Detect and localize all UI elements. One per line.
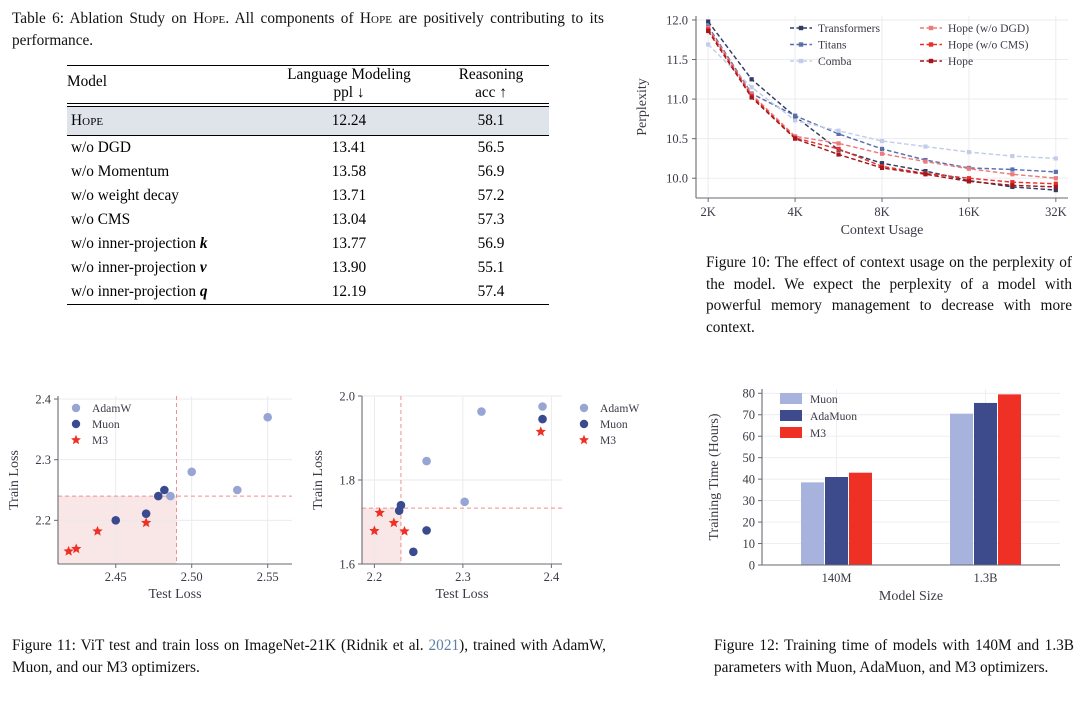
series-marker (836, 129, 840, 133)
table-row-highlight: Hope 12.24 58.1 (67, 107, 549, 136)
data-point-circle (477, 407, 486, 416)
series-marker (706, 19, 710, 23)
series-marker (1054, 156, 1058, 160)
cell-acc: 56.9 (433, 160, 549, 184)
figure10-svg: 10.010.511.011.512.02K4K8K16K32KContext … (620, 0, 1080, 240)
cell-model-text: w/o inner-projection q (71, 283, 208, 300)
data-point-circle (538, 415, 547, 424)
data-point-circle (154, 492, 163, 501)
tick-label-y: 1.8 (339, 473, 355, 487)
tick-label-y: 0 (749, 558, 755, 572)
cell-model: w/o inner-projection k (67, 232, 265, 256)
figure12-caption: Figure 12: Training time of models with … (714, 635, 1074, 678)
legend-swatch (780, 393, 802, 404)
cell-acc: 56.5 (433, 136, 549, 160)
tick-label-x: 32K (1045, 205, 1067, 219)
cell-ppl: 13.58 (265, 160, 433, 184)
table-row: w/o inner-projection k 13.77 56.9 (67, 232, 549, 256)
column-header-lm: Language Modeling ppl ↓ (265, 66, 433, 103)
tick-label-y: 40 (743, 472, 756, 486)
table6-block: Table 6: Ablation Study on Hope. All com… (12, 8, 604, 305)
legend-label: M3 (810, 427, 826, 440)
legend-label: Comba (818, 55, 852, 68)
legend-label: Hope (w/o DGD) (948, 22, 1029, 35)
figure11-right-svg: 1.61.82.02.22.32.4Test LossTrain LossAda… (300, 378, 720, 628)
series-marker (967, 150, 971, 154)
cell-ppl: 13.71 (265, 184, 433, 208)
column-header-model: Model (67, 66, 265, 103)
table6-caption-hope-1: Hope (193, 10, 225, 27)
bar-adamuon-1.3B (974, 403, 997, 565)
cell-model: w/o CMS (67, 208, 265, 232)
tick-label-x: 2.2 (367, 570, 383, 584)
tick-label-y: 2.2 (35, 514, 51, 528)
legend-marker (799, 42, 803, 46)
figure11-left-svg: 2.22.32.42.452.502.55Test LossTrain Loss… (0, 378, 300, 628)
data-point-circle (233, 486, 242, 495)
axis-label-y: Perplexity (635, 78, 650, 136)
series-marker (1010, 167, 1014, 171)
series-marker (880, 139, 884, 143)
pareto-shade (58, 496, 177, 564)
series-marker (967, 179, 971, 183)
tick-label-y: 50 (743, 451, 756, 465)
series-marker (750, 85, 754, 89)
bar-m3-1.3B (998, 394, 1021, 565)
cell-acc: 56.9 (433, 232, 549, 256)
column-header-reasoning: Reasoning acc ↑ (433, 66, 549, 103)
math-symbol: v (200, 259, 207, 276)
tick-label-y: 11.5 (667, 53, 688, 67)
cell-ppl: 13.41 (265, 136, 433, 160)
series-marker (880, 147, 884, 151)
figure10-chart: 10.010.511.011.512.02K4K8K16K32KContext … (620, 0, 1080, 240)
series-marker (880, 152, 884, 156)
paper-page: Table 6: Ablation Study on Hope. All com… (0, 0, 1080, 721)
table-row: w/o inner-projection q 12.19 57.4 (67, 280, 549, 305)
data-point-circle (187, 468, 196, 477)
cell-model: w/o Momentum (67, 160, 265, 184)
cell-ppl: 13.77 (265, 232, 433, 256)
data-point-circle (538, 402, 547, 411)
legend-marker (929, 26, 933, 30)
cell-model: w/o weight decay (67, 184, 265, 208)
series-marker (836, 147, 840, 151)
svg-fig11L-plot: 2.22.32.42.452.502.55Test LossTrain Loss… (7, 392, 292, 602)
tick-label-x: 2.50 (181, 570, 203, 584)
axis-label-x: Test Loss (148, 587, 201, 602)
legend-marker-circle (72, 404, 80, 412)
tick-label-x: 16K (958, 205, 980, 219)
legend-label: Muon (600, 418, 628, 431)
svg-fig11R-legend: AdamWMuonM3 (579, 402, 639, 447)
tick-label-y: 2.4 (35, 392, 51, 406)
cell-ppl: 12.19 (265, 280, 433, 305)
axis-label-y: Training Time (Hours) (707, 413, 722, 540)
series-marker (1010, 183, 1014, 187)
series-marker (923, 160, 927, 164)
cell-acc: 57.2 (433, 184, 549, 208)
series-marker (1010, 172, 1014, 176)
series-marker (1054, 176, 1058, 180)
series-marker (1054, 170, 1058, 174)
legend-label: Titans (818, 39, 847, 52)
table-header-row: Model Language Modeling ppl ↓ Reasoning … (67, 66, 549, 103)
series-marker (706, 29, 710, 33)
figure12-legend: MuonAdaMuonM3 (780, 393, 857, 440)
series-marker (706, 42, 710, 46)
data-point-circle (422, 526, 431, 535)
bar-muon-1.3B (950, 414, 973, 565)
legend-label: Hope (w/o CMS) (948, 39, 1029, 52)
legend-label: AdamW (600, 402, 639, 415)
cell-model: w/o inner-projection v (67, 256, 265, 280)
axis-label-x: Context Usage (841, 223, 924, 238)
column-header-lm-line1: Language Modeling (265, 66, 433, 84)
series-marker (923, 144, 927, 148)
column-header-reasoning-line2: acc ↑ (433, 84, 549, 102)
legend-label: Muon (810, 393, 838, 406)
cell-model-text: w/o inner-projection k (71, 235, 208, 252)
table-rule-bottom (67, 305, 549, 306)
fig10-plot: 10.010.511.011.512.02K4K8K16K32KContext … (635, 13, 1068, 238)
legend-label: AdamW (92, 402, 131, 415)
legend-label: Transformers (818, 22, 881, 35)
tick-label-y: 80 (743, 387, 756, 401)
cell-acc: 57.4 (433, 280, 549, 305)
data-point-circle (460, 498, 469, 507)
data-point-circle (160, 486, 169, 495)
bar-muon-140M (801, 482, 824, 565)
series-marker (967, 167, 971, 171)
cell-model: w/o inner-projection q (67, 280, 265, 305)
figure11-caption-pre: Figure 11: ViT test and train loss on Im… (12, 637, 429, 654)
data-point-circle (422, 457, 431, 466)
series-marker (750, 95, 754, 99)
table6-caption: Table 6: Ablation Study on Hope. All com… (12, 8, 604, 51)
tick-label-y: 30 (743, 494, 756, 508)
figure12-chart: 140M1.3B01020304050607080Model SizeTrain… (700, 375, 1080, 625)
tick-label-x: 8K (874, 205, 889, 219)
tick-label-y: 2.0 (339, 389, 355, 403)
tick-label-x: 2.55 (257, 570, 279, 584)
axis-label-y: Train Loss (311, 450, 326, 510)
figure11-left-chart: 2.22.32.42.452.502.55Test LossTrain Loss… (0, 378, 300, 628)
data-point-circle (263, 413, 272, 422)
cell-ppl: 13.04 (265, 208, 433, 232)
tick-label-y: 10.5 (666, 132, 688, 146)
column-header-lm-line2: ppl ↓ (265, 84, 433, 102)
cell-model-text: w/o inner-projection v (71, 259, 207, 276)
fig12-plot: 140M1.3B01020304050607080Model SizeTrain… (707, 387, 1060, 604)
tick-label-y: 1.6 (339, 557, 355, 571)
data-point-circle (111, 516, 120, 525)
data-point-circle (397, 501, 406, 510)
tick-label-x: 2.3 (455, 570, 471, 584)
legend-marker-circle (72, 420, 80, 428)
tick-label-x: 2.4 (544, 570, 560, 584)
figure10-legend: TransformersTitansCombaHope (w/o DGD)Hop… (790, 22, 1029, 68)
legend-swatch (780, 427, 802, 438)
bar-m3-140M (849, 473, 872, 565)
series-marker (836, 152, 840, 156)
tick-label-y: 12.0 (666, 13, 688, 27)
table-row: w/o weight decay 13.71 57.2 (67, 184, 549, 208)
series-marker (793, 137, 797, 141)
column-header-reasoning-line1: Reasoning (433, 66, 549, 84)
legend-marker (799, 26, 803, 30)
data-point-circle (166, 492, 175, 501)
figure10-caption: Figure 10: The effect of context usage o… (706, 252, 1072, 339)
tick-label-y: 11.0 (667, 92, 688, 106)
figure12-svg: 140M1.3B01020304050607080Model SizeTrain… (700, 375, 1080, 625)
figure11-caption: Figure 11: ViT test and train loss on Im… (12, 635, 606, 678)
table-row: w/o DGD 13.41 56.5 (67, 136, 549, 160)
bar-adamuon-140M (825, 477, 848, 565)
cell-model: w/o DGD (67, 136, 265, 160)
legend-marker-circle (580, 404, 588, 412)
svg-fig11R-plot: 1.61.82.02.22.32.4Test LossTrain LossAda… (311, 389, 639, 602)
table-row: w/o Momentum 13.58 56.9 (67, 160, 549, 184)
tick-label-x: 140M (822, 571, 852, 585)
tick-label-x: 2K (701, 205, 716, 219)
series-marker (1054, 185, 1058, 189)
tick-label-x: 1.3B (974, 571, 998, 585)
legend-label: M3 (600, 434, 616, 447)
tick-label-y: 2.3 (35, 453, 51, 467)
legend-marker-star (579, 435, 589, 444)
tick-label-y: 60 (743, 430, 756, 444)
cell-acc: 57.3 (433, 208, 549, 232)
cell-acc: 55.1 (433, 256, 549, 280)
cell-acc: 58.1 (433, 107, 549, 136)
axis-label-y: Train Loss (7, 450, 22, 510)
series-marker (793, 118, 797, 122)
tick-label-x: 2.45 (105, 570, 127, 584)
table6-caption-mid: . All components of (225, 10, 360, 27)
cell-model: Hope (67, 107, 265, 136)
table6-caption-hope-2: Hope (360, 10, 392, 27)
figure11-right-chart: 1.61.82.02.22.32.4Test LossTrain LossAda… (300, 378, 720, 628)
tick-label-x: 4K (787, 205, 802, 219)
series-marker (836, 141, 840, 145)
series-marker (880, 166, 884, 170)
series-marker (793, 114, 797, 118)
tick-label-y: 20 (743, 515, 756, 529)
legend-marker (929, 59, 933, 63)
series-marker (923, 172, 927, 176)
math-symbol: q (200, 283, 208, 300)
series-marker (750, 77, 754, 81)
data-point-circle (142, 509, 151, 518)
legend-marker-star (71, 435, 81, 444)
cell-ppl: 13.90 (265, 256, 433, 280)
axis-label-x: Model Size (879, 589, 943, 604)
tick-label-y: 70 (743, 408, 756, 422)
cell-ppl: 12.24 (265, 107, 433, 136)
svg-fig11L-legend: AdamWMuonM3 (71, 402, 131, 447)
legend-marker (799, 59, 803, 63)
data-point-circle (409, 548, 418, 557)
axis-label-x: Test Loss (435, 587, 488, 602)
data-point-star (536, 426, 546, 436)
figure11-citation-year: 2021 (429, 637, 460, 654)
legend-label: Muon (92, 418, 120, 431)
pareto-shade (362, 508, 401, 564)
ablation-table: Model Language Modeling ppl ↓ Reasoning … (67, 65, 549, 305)
legend-marker (929, 42, 933, 46)
tick-label-y: 10.0 (666, 172, 688, 186)
legend-label: M3 (92, 434, 108, 447)
legend-label: Hope (948, 55, 973, 68)
math-symbol: k (200, 235, 208, 252)
legend-marker-circle (580, 420, 588, 428)
table-row: w/o inner-projection v 13.90 55.1 (67, 256, 549, 280)
table6-caption-pre: Table 6: Ablation Study on (12, 10, 193, 27)
series-marker (1010, 154, 1014, 158)
table-row: w/o CMS 13.04 57.3 (67, 208, 549, 232)
legend-label: AdaMuon (810, 410, 857, 423)
tick-label-y: 10 (743, 537, 756, 551)
legend-swatch (780, 410, 802, 421)
